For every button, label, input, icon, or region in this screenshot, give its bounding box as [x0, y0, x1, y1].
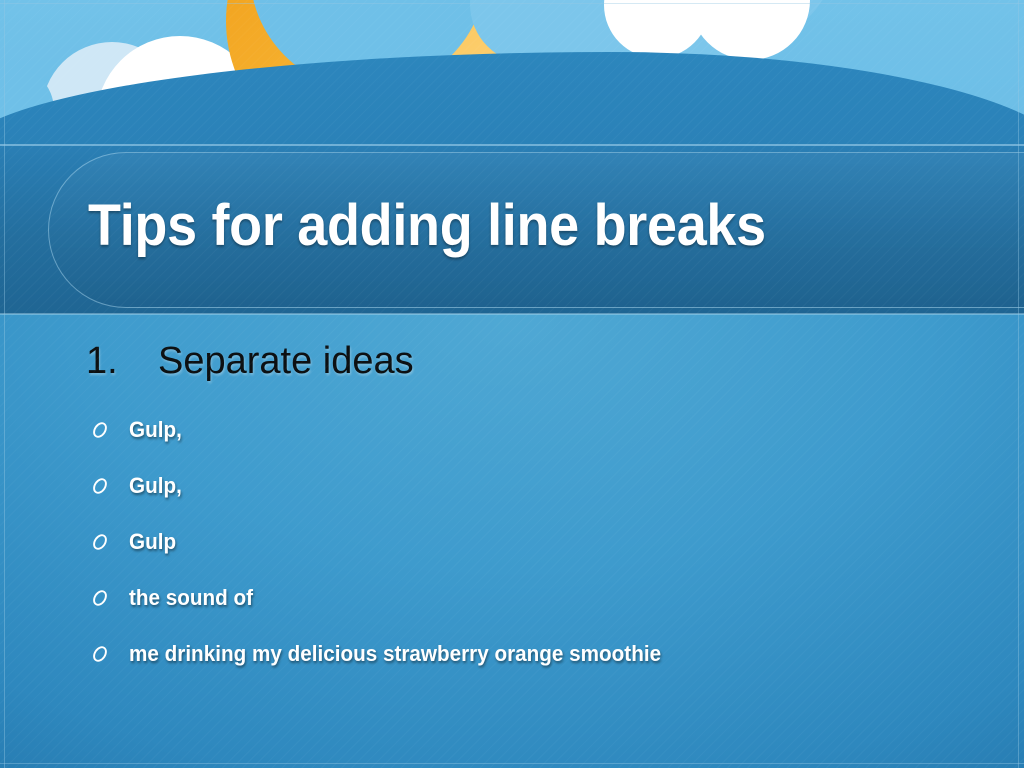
slide-frame-left	[4, 0, 5, 768]
list-number: 1.	[86, 340, 158, 383]
slanted-oval-bullet-icon	[86, 475, 129, 497]
list-item-label: the sound of	[129, 585, 253, 611]
list-item-label: me drinking my delicious strawberry oran…	[129, 641, 661, 667]
list-item-label: Gulp	[129, 529, 176, 555]
list-item-label: Gulp,	[129, 417, 182, 443]
slide-frame-right	[1018, 0, 1019, 768]
title-band-bottom-rule	[0, 313, 1024, 315]
slide-body: 1. Separate ideas Gulp, Gulp,	[0, 320, 1024, 768]
sky-band	[0, 0, 1024, 160]
list-item-label: Gulp,	[129, 473, 182, 499]
numbered-list-item: 1. Separate ideas	[86, 340, 414, 383]
slanted-oval-bullet-icon	[86, 587, 129, 609]
slide-canvas: Tips for adding line breaks 1. Separate …	[0, 0, 1024, 768]
slanted-oval-bullet-icon	[86, 419, 129, 441]
slide-frame-bottom	[0, 763, 1024, 764]
sub-bullet-list: Gulp, Gulp, Gulp	[86, 402, 986, 682]
slanted-oval-bullet-icon	[86, 643, 129, 665]
list-item: Gulp,	[86, 458, 986, 514]
list-item: Gulp	[86, 514, 986, 570]
slide-frame-top	[0, 3, 1024, 4]
list-item: me drinking my delicious strawberry oran…	[86, 626, 986, 682]
title-band-top-rule	[0, 144, 1024, 146]
list-item: Gulp,	[86, 402, 986, 458]
list-item: the sound of	[86, 570, 986, 626]
list-number-label: Separate ideas	[158, 340, 414, 383]
slanted-oval-bullet-icon	[86, 531, 129, 553]
page-title: Tips for adding line breaks	[88, 192, 925, 259]
